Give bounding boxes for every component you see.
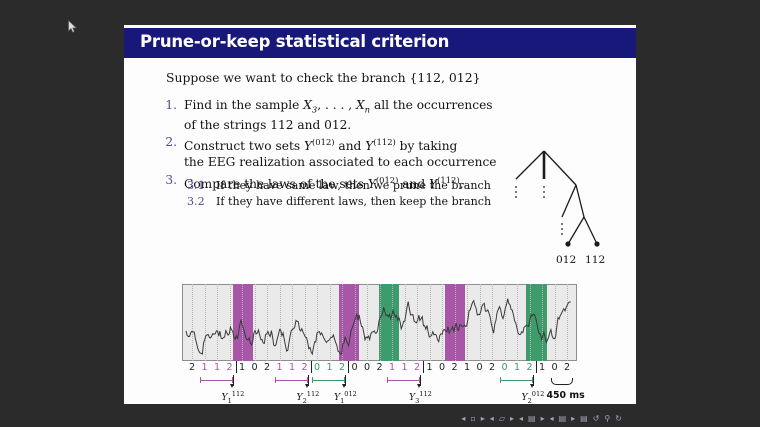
- list-item: 2. Construct two sets Y(012) and Y(112) …: [157, 135, 507, 170]
- bracket-bar: [313, 380, 344, 381]
- sequence-digit: 2: [524, 362, 536, 373]
- list-item-text: Find in the sample X3, . . . , Xn all th…: [184, 98, 507, 133]
- tree-leaf-label-112: 112: [585, 254, 605, 266]
- first-frame-icon[interactable]: ▫: [470, 414, 475, 423]
- sub-item-text: If they have different laws, then keep t…: [216, 195, 517, 208]
- math-sup: (012): [312, 137, 335, 147]
- sequence-digit: 2: [299, 362, 311, 373]
- text-fragment: , . . . ,: [317, 98, 356, 112]
- bracket-bar: [501, 380, 532, 381]
- next-slide-icon[interactable]: ▸: [481, 414, 485, 423]
- part-icon[interactable]: ▤: [559, 414, 567, 423]
- sequence-digit: 1: [199, 362, 211, 373]
- bracket-bar: [276, 380, 307, 381]
- y-sample-label: Y1012: [334, 390, 357, 405]
- math-sup: (112): [373, 137, 396, 147]
- sequence-digit: 1: [274, 362, 286, 373]
- list-item-line2: of the strings 112 and 012.: [184, 118, 507, 134]
- sequence-digit: 1: [536, 362, 548, 373]
- prev-section-icon[interactable]: ◂: [519, 414, 523, 423]
- sequence-digit: 2: [261, 362, 273, 373]
- duration-brace: [551, 378, 574, 385]
- sequence-separator: [311, 361, 312, 373]
- sequence-digit: 0: [549, 362, 561, 373]
- math-var-Y: Y: [304, 140, 312, 154]
- screen: Prune-or-keep statistical criterion Supp…: [0, 0, 760, 427]
- sequence-separator: [348, 361, 349, 373]
- occurrence-bracket: [275, 377, 308, 383]
- sequence-digit: 0: [361, 362, 373, 373]
- bracket-bar: [388, 380, 419, 381]
- search-icon[interactable]: ⚲: [604, 414, 610, 423]
- slide-body: Suppose we want to check the branch {112…: [124, 58, 636, 404]
- sequence-digit: 2: [486, 362, 498, 373]
- sequence-digit: 1: [286, 362, 298, 373]
- subsection-icon[interactable]: ▱: [499, 414, 505, 423]
- tree-leaf-label-012: 012: [556, 254, 576, 266]
- occurrence-bracket: [200, 377, 233, 383]
- y-sample-label: Y2112: [297, 390, 320, 405]
- sequence-digit: 2: [411, 362, 423, 373]
- duration-label: 450 ms: [547, 390, 585, 401]
- sequence-digit: 1: [424, 362, 436, 373]
- math-var-Xn: X: [356, 98, 365, 112]
- sequence-digit: 1: [399, 362, 411, 373]
- list-item: 3.2 If they have different laws, then ke…: [187, 195, 517, 211]
- math-var-X3: X: [303, 98, 312, 112]
- text-fragment: and: [335, 140, 366, 154]
- beamer-navigation-bar: ◂ ▫ ▸ ◂ ▱ ▸ ◂ ▤ ▸ ◂ ▤ ▸ ▤ ↺ ⚲ ↻: [392, 411, 622, 425]
- sequence-digit: 1: [386, 362, 398, 373]
- text-fragment: Construct two sets: [184, 140, 304, 154]
- next-part-icon[interactable]: ▸: [571, 414, 575, 423]
- y-sample-label: Y1112: [222, 390, 245, 405]
- sequence-digit: 1: [211, 362, 223, 373]
- sub-enumerated-list: 3.1 If they have same law, then we prune…: [187, 179, 517, 211]
- occurrence-arrowhead: [530, 384, 534, 388]
- occurrence-bracket: [500, 377, 533, 383]
- sequence-digit: 2: [336, 362, 348, 373]
- occurrence-arrowhead: [305, 384, 309, 388]
- occurrence-arrowhead: [230, 384, 234, 388]
- section-icon[interactable]: ▤: [528, 414, 536, 423]
- sequence-digit: 1: [511, 362, 523, 373]
- sequence-digit: 2: [186, 362, 198, 373]
- sub-item-text: If they have same law, then we prune the…: [216, 179, 517, 192]
- sequence-digit: 1: [324, 362, 336, 373]
- text-fragment: Find in the sample: [184, 98, 303, 112]
- sequence-digit: 0: [311, 362, 323, 373]
- text-fragment: all the occurrences: [370, 98, 493, 112]
- list-item-line2: the EEG realization associated to each o…: [184, 155, 507, 171]
- sequence-digit: 2: [224, 362, 236, 373]
- sequence-digit: 0: [349, 362, 361, 373]
- sequence-digit: 2: [449, 362, 461, 373]
- sub-item-number: 3.2: [187, 195, 211, 208]
- next-subsection-icon[interactable]: ▸: [510, 414, 514, 423]
- occurrence-arrowhead: [342, 384, 346, 388]
- page-title: Prune-or-keep statistical criterion: [140, 32, 449, 51]
- list-item: 3.1 If they have same law, then we prune…: [187, 179, 517, 195]
- prev-part-icon[interactable]: ◂: [550, 414, 554, 423]
- list-item: 1. Find in the sample X3, . . . , Xn all…: [157, 98, 507, 133]
- sub-item-number: 3.1: [187, 179, 211, 192]
- forward-icon[interactable]: ↻: [615, 414, 622, 423]
- next-section-icon[interactable]: ▸: [541, 414, 545, 423]
- occurrence-arrowhead: [417, 384, 421, 388]
- document-icon[interactable]: ▤: [580, 414, 588, 423]
- prev-slide-icon[interactable]: ◂: [461, 414, 465, 423]
- y-sample-label: Y2012: [522, 390, 545, 405]
- list-item-number: 1.: [157, 98, 177, 112]
- text-fragment: by taking: [396, 140, 458, 154]
- sequence-digit: 1: [236, 362, 248, 373]
- bracket-bar: [201, 380, 232, 381]
- eeg-trace: [182, 284, 577, 361]
- sequence-digit: 1: [461, 362, 473, 373]
- eeg-signal-plot: [182, 284, 577, 361]
- presentation-slide: Prune-or-keep statistical criterion Supp…: [124, 25, 636, 404]
- sequence-separator: [236, 361, 237, 373]
- list-item-text: Construct two sets Y(012) and Y(112) by …: [184, 135, 507, 170]
- eeg-trace-path: [186, 299, 571, 354]
- sequence-digit: 0: [499, 362, 511, 373]
- list-item-number: 3.: [157, 173, 177, 187]
- sequence-separator: [423, 361, 424, 373]
- sequence-digit: 2: [374, 362, 386, 373]
- occurrence-bracket: [312, 377, 345, 383]
- occurrence-bracket: [387, 377, 420, 383]
- back-icon[interactable]: ↺: [593, 414, 600, 423]
- symbol-sequence-axis: 2112102112012002112102102012102Y1112Y211…: [182, 362, 577, 414]
- sequence-digit: 0: [474, 362, 486, 373]
- prev-subsection-icon[interactable]: ◂: [490, 414, 494, 423]
- sequence-digit: 0: [436, 362, 448, 373]
- mouse-cursor: [68, 20, 78, 33]
- list-item-number: 2.: [157, 135, 177, 149]
- y-sample-label: Y3112: [409, 390, 432, 405]
- intro-text: Suppose we want to check the branch {112…: [166, 70, 480, 85]
- sequence-digit: 0: [249, 362, 261, 373]
- sequence-digit: 2: [561, 362, 573, 373]
- sequence-separator: [536, 361, 537, 373]
- context-tree-diagram: [504, 145, 629, 265]
